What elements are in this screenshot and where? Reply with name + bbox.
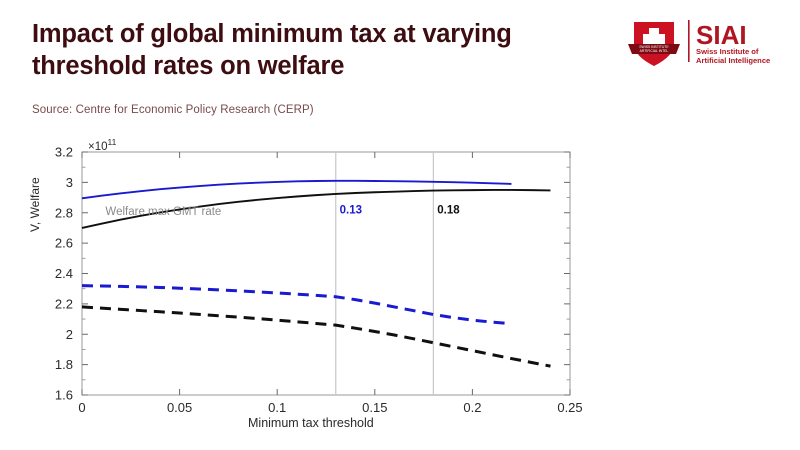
annotation-0: Welfare max GMT rate	[105, 206, 221, 218]
siai-logo-svg: SWISS INSTITUTE ARTIFICIAL INTEL SIAI Sw…	[622, 14, 782, 70]
annotation-2: 0.18	[437, 205, 460, 217]
logo-tagline-line1: Swiss Institute of	[696, 47, 759, 56]
source-caption: Source: Centre for Economic Policy Resea…	[32, 104, 314, 116]
x-tick-label: 0.15	[362, 400, 387, 415]
x-axis-label: Minimum tax threshold	[248, 416, 374, 430]
logo-tagline-line2: Artificial Intelligence	[696, 56, 770, 65]
logo-acronym: SIAI	[696, 20, 747, 50]
x-tick-label: 0.2	[463, 400, 481, 415]
x-tick-label: 0.1	[268, 400, 286, 415]
annotation-1: 0.13	[340, 205, 362, 217]
y-axis-label: V, Welfare	[28, 177, 42, 232]
shield-icon: SWISS INSTITUTE ARTIFICIAL INTEL	[628, 22, 680, 66]
y-tick-label: 2.8	[55, 205, 73, 220]
series-line-2	[82, 286, 511, 324]
y-tick-label: 2	[66, 327, 73, 342]
series-line-0	[82, 181, 511, 198]
svg-text:ARTIFICIAL INTEL: ARTIFICIAL INTEL	[640, 49, 669, 53]
y-tick-label: 1.8	[55, 357, 73, 372]
logo-divider	[688, 20, 690, 62]
y-axis-multiplier: ×1011	[88, 137, 116, 153]
y-tick-label: 1.6	[55, 388, 73, 403]
y-tick-label: 3	[66, 175, 73, 190]
y-tick-label: 2.2	[55, 296, 73, 311]
y-tick-label: 2.4	[55, 266, 73, 281]
page-title: Impact of global minimum tax at varying …	[32, 18, 632, 82]
series-line-3	[82, 307, 550, 366]
series-line-1	[82, 190, 550, 228]
y-tick-label: 2.6	[55, 236, 73, 251]
x-tick-label: 0	[78, 400, 85, 415]
y-tick-label: 3.2	[55, 145, 73, 160]
slide-canvas: Impact of global minimum tax at varying …	[0, 0, 800, 450]
plot-border	[82, 152, 570, 395]
siai-logo: SWISS INSTITUTE ARTIFICIAL INTEL SIAI Sw…	[622, 14, 782, 70]
x-tick-label: 0.05	[167, 400, 192, 415]
x-tick-label: 0.25	[557, 400, 582, 415]
